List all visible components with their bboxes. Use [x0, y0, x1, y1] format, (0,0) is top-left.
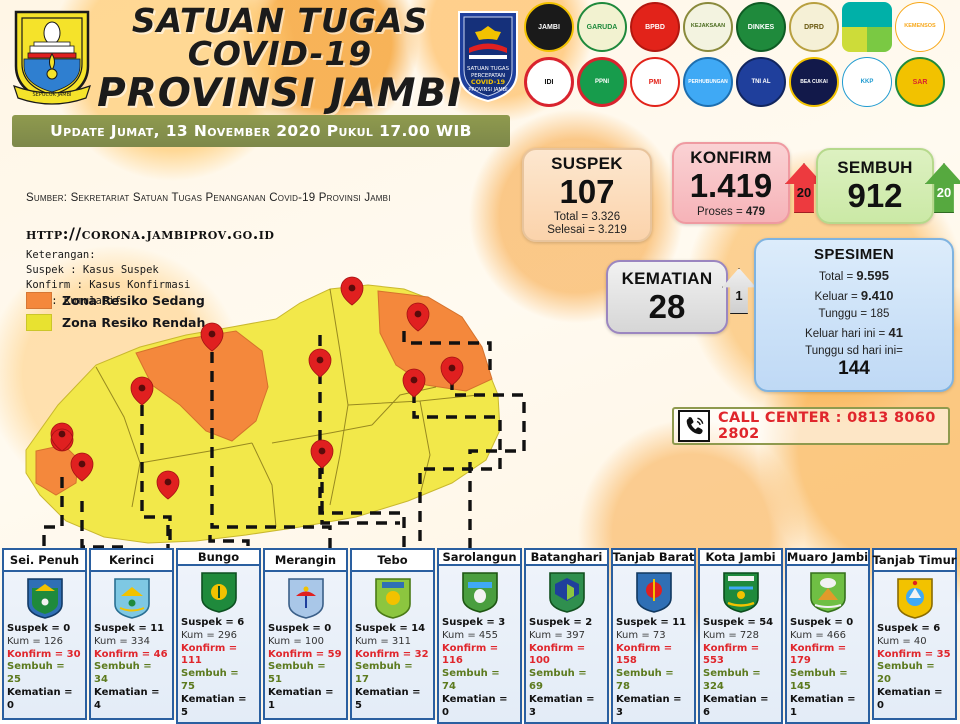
stat-kum: Kum = 397 [529, 630, 604, 643]
regency-name: Tanjab Timur [872, 548, 957, 572]
bungo-crest-icon [199, 570, 239, 614]
stat-value-kematian: 28 [649, 290, 686, 325]
title-line-2: PROVINSI JAMBI [95, 74, 465, 113]
delta-value-konfirm: 20 [797, 185, 811, 200]
regency-body: Suspek = 2 Kum = 397 Konfirm = 100 Sembu… [524, 566, 609, 724]
sarolangun-crest-icon [460, 570, 500, 614]
kerinci-crest-icon [112, 576, 152, 620]
regency-name: Tanjab Barat [611, 548, 696, 566]
regency-stats: Suspek = 2 Kum = 397 Konfirm = 100 Sembu… [529, 617, 604, 719]
regency-name: Bungo [176, 548, 261, 566]
regency-name: Kota Jambi [698, 548, 783, 566]
stat-konfirm: Konfirm = 553 [703, 643, 778, 669]
stat-konfirm: Konfirm = 158 [616, 643, 691, 669]
svg-text:PROVINSI JAMBI: PROVINSI JAMBI [468, 87, 507, 93]
stat-sembuh: Sembuh = 78 [616, 668, 691, 694]
regency-name: Muaro Jambi [785, 548, 870, 566]
regency-body: Suspek = 0 Kum = 100 Konfirm = 59 Sembuh… [263, 572, 348, 720]
stat-card-suspek[interactable]: SUSPEK 107 Total = 3.326 Selesai = 3.219 [522, 148, 652, 242]
stat-konfirm: Konfirm = 35 [877, 649, 952, 662]
stat-sembuh: Sembuh = 25 [7, 661, 82, 687]
delta-arrow-up-kematian-icon: 1 [722, 268, 756, 314]
stat-kematian: Kematian = 5 [181, 694, 256, 720]
regency-body: Suspek = 3 Kum = 455 Konfirm = 116 Sembu… [437, 566, 522, 724]
stat-label-konfirm: KONFIRM [690, 148, 771, 168]
title-block: SATUAN TUGAS COVID-19 PROVINSI JAMBI [95, 4, 465, 113]
stat-konfirm: Konfirm = 116 [442, 643, 517, 669]
stat-suspek: Suspek = 11 [616, 617, 691, 630]
tni-al-logo-icon: TNI AL [736, 57, 786, 107]
dprd-logo-icon: DPRD [789, 2, 839, 52]
stat-sembuh: Sembuh = 17 [355, 661, 430, 687]
stat-sembuh: Sembuh = 145 [790, 668, 865, 694]
stat-konfirm: Konfirm = 111 [181, 643, 256, 669]
svg-text:SEPUCUK JAMBI: SEPUCUK JAMBI [32, 92, 71, 98]
regency-name: Tebo [350, 548, 435, 572]
ppni-logo-icon: PPNI [577, 57, 627, 107]
regency-stats: Suspek = 0 Kum = 466 Konfirm = 179 Sembu… [790, 617, 865, 719]
stat-kum: Kum = 455 [442, 630, 517, 643]
regency-card-merangin[interactable]: Merangin Suspek = 0 Kum = 100 Konfirm = … [263, 548, 348, 720]
kemenkes-logo-icon [842, 2, 892, 52]
stat-suspek-total: Total = 3.326 [554, 211, 620, 223]
website-url[interactable]: http://corona.jambiprov.go.id [26, 224, 274, 243]
stat-kematian: Kematian = 3 [616, 694, 691, 720]
stat-kematian: Kematian = 5 [355, 687, 430, 713]
stat-sembuh: Sembuh = 34 [94, 661, 169, 687]
infographic-root: SEPUCUK JAMBI SATUAN TUGAS COVID-19 PROV… [0, 0, 960, 720]
stat-konfirm: Konfirm = 46 [94, 649, 169, 662]
kemenhub-logo-icon: PERHUBUNGAN [683, 57, 733, 107]
stat-card-konfirm[interactable]: KONFIRM 1.419 Proses = 479 [672, 142, 790, 224]
regency-card-kerinci[interactable]: Kerinci Suspek = 11 Kum = 334 Konfirm = … [89, 548, 174, 720]
stat-sembuh: Sembuh = 51 [268, 661, 343, 687]
regency-name: Kerinci [89, 548, 174, 572]
stat-suspek-selesai: Selesai = 3.219 [547, 224, 627, 236]
regency-stats: Suspek = 0 Kum = 126 Konfirm = 30 Sembuh… [7, 623, 82, 713]
stat-kum: Kum = 73 [616, 630, 691, 643]
kota-jambi-crest-icon [721, 570, 761, 614]
stat-suspek: Suspek = 2 [529, 617, 604, 630]
stat-kum: Kum = 311 [355, 636, 430, 649]
dinkes-logo-icon: DINKES [736, 2, 786, 52]
regency-body: Suspek = 54 Kum = 728 Konfirm = 553 Semb… [698, 566, 783, 724]
satgas-covid-badge-icon: SATUAN TUGAS PERCEPATAN COVID-19 PROVINS… [455, 8, 521, 104]
stat-kematian: Kematian = 4 [94, 687, 169, 713]
stat-sembuh: Sembuh = 324 [703, 668, 778, 694]
partner-logo-row-bottom: IDI PPNI PMI PERHUBUNGAN TNI AL BEA CUKA… [522, 57, 958, 110]
stat-suspek: Suspek = 0 [790, 617, 865, 630]
bea-cukai-logo-icon: BEA CUKAI [789, 57, 839, 107]
stat-value-sembuh: 912 [847, 179, 902, 214]
bpbd-logo-icon: BPBD [630, 2, 680, 52]
stat-kematian: Kematian = 0 [442, 694, 517, 720]
stat-kum: Kum = 334 [94, 636, 169, 649]
spesimen-row-tunggu: Tunggu = 185 [819, 308, 890, 320]
sungai-penuh-crest-icon [25, 576, 65, 620]
phone-icon [678, 410, 710, 442]
stat-kum: Kum = 296 [181, 630, 256, 643]
polda-jambi-logo-icon: JAMBI [524, 2, 574, 52]
regency-body: Suspek = 14 Kum = 311 Konfirm = 32 Sembu… [350, 572, 435, 720]
stat-suspek: Suspek = 11 [94, 623, 169, 636]
stat-kematian: Kematian = 0 [877, 687, 952, 713]
stat-sembuh: Sembuh = 75 [181, 668, 256, 694]
stat-konfirm: Konfirm = 32 [355, 649, 430, 662]
stat-value-suspek: 107 [559, 175, 614, 210]
source-value: Sekretariat Satuan Tugas Penanganan Covi… [71, 192, 391, 204]
stat-sembuh: Sembuh = 74 [442, 668, 517, 694]
jambi-risk-zone-map[interactable] [0, 255, 530, 555]
stat-label-kematian: KEMATIAN [622, 269, 713, 289]
spesimen-row-keluar: Keluar = 9.410 [815, 288, 894, 303]
regency-card-batanghari[interactable]: Batanghari Suspek = 2 Kum = 397 Konfirm … [524, 548, 609, 720]
call-center-text: CALL CENTER : 0813 8060 2802 [718, 410, 948, 442]
update-timestamp-text: Update Jumat, 13 November 2020 Pukul 17.… [50, 122, 472, 140]
spesimen-row-tunggu-sd-hari-ini-label: Tunggu sd hari ini= [805, 345, 903, 357]
stat-konfirm: Konfirm = 30 [7, 649, 82, 662]
stat-label-sembuh: SEMBUH [837, 158, 912, 178]
kejaksaan-logo-icon: KEJAKSAAN [683, 2, 733, 52]
stat-konfirm: Konfirm = 179 [790, 643, 865, 669]
regency-body: Suspek = 0 Kum = 126 Konfirm = 30 Sembuh… [2, 572, 87, 720]
delta-value-sembuh: 20 [937, 185, 951, 200]
regency-card-tanjab-timur[interactable]: Tanjab Timur Suspek = 6 Kum = 40 Konfirm… [872, 548, 957, 720]
tebo-crest-icon [373, 576, 413, 620]
stat-konfirm: Konfirm = 100 [529, 643, 604, 669]
tanjab-barat-crest-icon [634, 570, 674, 614]
regency-card-tebo[interactable]: Tebo Suspek = 14 Kum = 311 Konfirm = 32 … [350, 548, 435, 720]
muaro-jambi-crest-icon [808, 570, 848, 614]
stat-label-suspek: SUSPEK [551, 154, 623, 174]
tanjab-timur-crest-icon [895, 576, 935, 620]
regency-card-muaro-jambi[interactable]: Muaro Jambi Suspek = 0 Kum = 466 Konfirm… [785, 548, 870, 720]
stat-konfirm-proses: Proses = 479 [697, 206, 765, 218]
stat-kum: Kum = 100 [268, 636, 343, 649]
regency-body: Suspek = 11 Kum = 334 Konfirm = 46 Sembu… [89, 572, 174, 720]
stat-kum: Kum = 40 [877, 636, 952, 649]
pmi-logo-icon: PMI [630, 57, 680, 107]
source-line: Sumber: Sekretariat Satuan Tugas Penanga… [26, 192, 391, 204]
regency-body: Suspek = 6 Kum = 296 Konfirm = 111 Sembu… [176, 566, 261, 724]
batanghari-crest-icon [547, 570, 587, 614]
basarnas-logo-icon: SAR [895, 57, 945, 107]
regency-body: Suspek = 6 Kum = 40 Konfirm = 35 Sembuh … [872, 572, 957, 720]
regency-stats: Suspek = 14 Kum = 311 Konfirm = 32 Sembu… [355, 623, 430, 713]
regency-card-row: Sei. Penuh Suspek = 0 Kum = 126 Konfirm … [0, 548, 960, 720]
regency-card-kota-jambi[interactable]: Kota Jambi Suspek = 54 Kum = 728 Konfirm… [698, 548, 783, 720]
stat-suspek: Suspek = 3 [442, 617, 517, 630]
regency-name: Batanghari [524, 548, 609, 566]
stat-suspek: Suspek = 0 [7, 623, 82, 636]
stat-sembuh: Sembuh = 20 [877, 661, 952, 687]
regency-card-sei-penuh[interactable]: Sei. Penuh Suspek = 0 Kum = 126 Konfirm … [2, 548, 87, 720]
spesimen-row-tunggu-sd-hari-ini-value: 144 [838, 358, 870, 380]
stat-kum: Kum = 466 [790, 630, 865, 643]
spesimen-row-keluar-hari-ini: Keluar hari ini = 41 [805, 325, 903, 340]
svg-text:COVID-19: COVID-19 [471, 78, 506, 86]
regency-card-tanjab-barat[interactable]: Tanjab Barat Suspek = 11 Kum = 73 Konfir… [611, 548, 696, 720]
update-timestamp-bar: Update Jumat, 13 November 2020 Pukul 17.… [12, 115, 510, 147]
stat-sembuh: Sembuh = 69 [529, 668, 604, 694]
kkp-logo-icon: KKP [842, 57, 892, 107]
regency-stats: Suspek = 6 Kum = 296 Konfirm = 111 Sembu… [181, 617, 256, 719]
stat-konfirm: Konfirm = 59 [268, 649, 343, 662]
stat-card-sembuh[interactable]: SEMBUH 912 [816, 148, 934, 224]
regency-stats: Suspek = 11 Kum = 334 Konfirm = 46 Sembu… [94, 623, 169, 713]
regency-body: Suspek = 0 Kum = 466 Konfirm = 179 Sembu… [785, 566, 870, 724]
stat-kematian: Kematian = 6 [703, 694, 778, 720]
regency-stats: Suspek = 3 Kum = 455 Konfirm = 116 Sembu… [442, 617, 517, 719]
partner-logo-strip: JAMBI GARUDA BPBD KEJAKSAAN DINKES DPRD … [522, 2, 958, 112]
stat-kum: Kum = 728 [703, 630, 778, 643]
kementerian-sosial-logo-icon: KEMENSOS [895, 2, 945, 52]
spesimen-row-total: Total = 9.595 [819, 268, 889, 283]
stat-label-spesimen: SPESIMEN [814, 246, 894, 263]
regency-body: Suspek = 11 Kum = 73 Konfirm = 158 Sembu… [611, 566, 696, 724]
stat-kum: Kum = 126 [7, 636, 82, 649]
stat-value-konfirm: 1.419 [690, 169, 773, 204]
merangin-crest-icon [286, 576, 326, 620]
stat-kematian: Kematian = 0 [7, 687, 82, 713]
garuda-putra-logo-icon: GARUDA [577, 2, 627, 52]
stat-kematian: Kematian = 3 [529, 694, 604, 720]
stat-card-spesimen[interactable]: SPESIMEN Total = 9.595 Keluar = 9.410 Tu… [754, 238, 954, 392]
jambi-province-emblem-icon: SEPUCUK JAMBI [8, 6, 96, 106]
stat-kematian: Kematian = 1 [790, 694, 865, 720]
stat-kematian: Kematian = 1 [268, 687, 343, 713]
regency-name: Sei. Penuh [2, 548, 87, 572]
stat-suspek: Suspek = 6 [877, 623, 952, 636]
regency-stats: Suspek = 54 Kum = 728 Konfirm = 553 Semb… [703, 617, 778, 719]
title-line-1: SATUAN TUGAS COVID-19 [95, 4, 465, 70]
stat-suspek: Suspek = 54 [703, 617, 778, 630]
partner-logo-row-top: JAMBI GARUDA BPBD KEJAKSAAN DINKES DPRD … [522, 2, 958, 55]
svg-text:SATUAN TUGAS: SATUAN TUGAS [467, 66, 510, 72]
stat-suspek: Suspek = 0 [268, 623, 343, 636]
regency-name: Sarolangun [437, 548, 522, 566]
regency-stats: Suspek = 6 Kum = 40 Konfirm = 35 Sembuh … [877, 623, 952, 713]
map-marker[interactable] [51, 423, 73, 451]
delta-value-kematian: 1 [735, 288, 742, 303]
call-center-banner[interactable]: CALL CENTER : 0813 8060 2802 [672, 407, 950, 445]
regency-stats: Suspek = 11 Kum = 73 Konfirm = 158 Sembu… [616, 617, 691, 719]
regency-card-sarolangun[interactable]: Sarolangun Suspek = 3 Kum = 455 Konfirm … [437, 548, 522, 720]
idi-logo-icon: IDI [524, 57, 574, 107]
header: SEPUCUK JAMBI SATUAN TUGAS COVID-19 PROV… [0, 0, 960, 112]
regency-card-bungo[interactable]: Bungo Suspek = 6 Kum = 296 Konfirm = 111… [176, 548, 261, 720]
stat-suspek: Suspek = 14 [355, 623, 430, 636]
regency-stats: Suspek = 0 Kum = 100 Konfirm = 59 Sembuh… [268, 623, 343, 713]
source-label: Sumber: [26, 192, 67, 204]
stat-card-kematian[interactable]: KEMATIAN 28 [606, 260, 728, 334]
regency-name: Merangin [263, 548, 348, 572]
delta-arrow-up-sembuh-icon: 20 [925, 163, 960, 213]
stat-suspek: Suspek = 6 [181, 617, 256, 630]
